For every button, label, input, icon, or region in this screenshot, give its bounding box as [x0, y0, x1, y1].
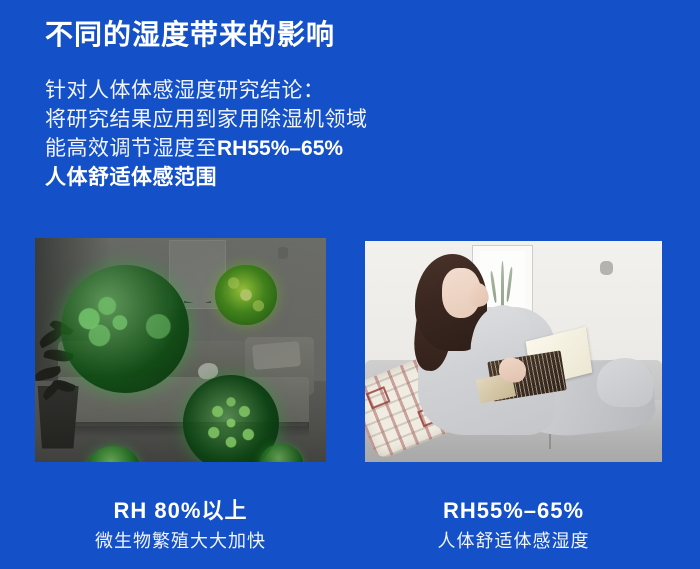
caption-title: RH55%–65%	[365, 497, 662, 525]
wall-thermostat-icon	[278, 247, 288, 259]
wall-art-branches	[184, 247, 211, 303]
caption-subtitle: 人体舒适体感湿度	[365, 529, 662, 553]
caption-high-humidity: RH 80%以上 微生物繁殖大大加快	[35, 497, 326, 553]
caption-comfort-humidity: RH55%–65% 人体舒适体感湿度	[365, 497, 662, 553]
caption-subtitle: 微生物繁殖大大加快	[35, 529, 326, 553]
page-title: 不同的湿度带来的影响	[45, 18, 335, 52]
photo-comfort-humidity	[365, 241, 662, 462]
intro-line-3-highlight: RH55%–65%	[217, 137, 343, 160]
intro-line-3-prefix: 能高效调节湿度至	[45, 137, 217, 160]
intro-copy-block: 针对人体体感湿度研究结论： 将研究结果应用到家用除湿机领域 能高效调节湿度至RH…	[45, 76, 465, 192]
wall-thermostat-icon	[600, 261, 613, 275]
cactus-arm-left	[490, 271, 498, 303]
intro-line-1: 针对人体体感湿度研究结论：	[45, 76, 465, 105]
intro-line-2: 将研究结果应用到家用除湿机领域	[45, 105, 465, 134]
cactus-arm-right	[506, 266, 513, 301]
woman-reading-scene	[365, 241, 662, 462]
caption-title: RH 80%以上	[35, 497, 326, 525]
photo-high-humidity	[35, 238, 326, 462]
plant-pot	[35, 386, 79, 449]
sofa-cushion	[252, 341, 301, 370]
mold-spore-icon	[215, 265, 276, 325]
humidity-infographic-poster: 不同的湿度带来的影响 针对人体体感湿度研究结论： 将研究结果应用到家用除湿机领域…	[0, 0, 700, 569]
intro-line-3: 能高效调节湿度至RH55%–65%	[45, 134, 465, 163]
intro-line-4: 人体舒适体感范围	[45, 163, 465, 192]
mold-room-scene	[35, 238, 326, 462]
woman-knee	[597, 358, 653, 407]
mold-spore-icon	[61, 265, 189, 393]
